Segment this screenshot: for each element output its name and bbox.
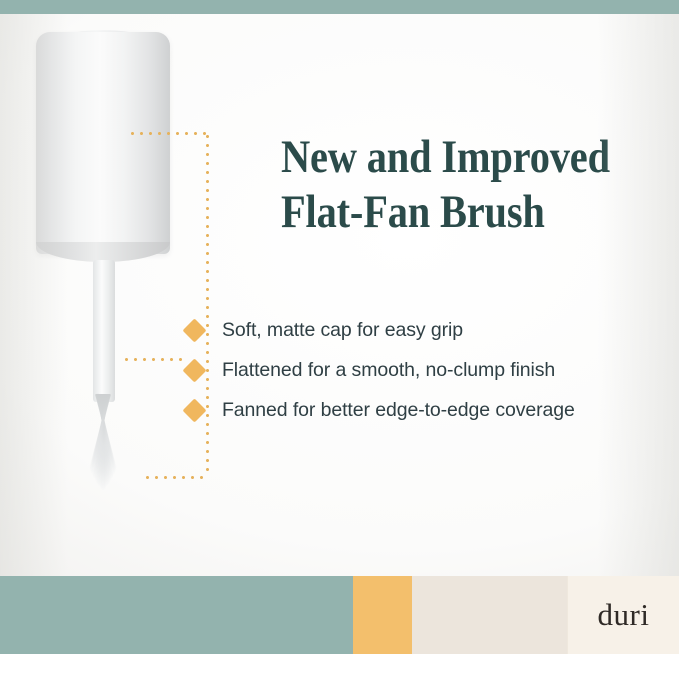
brush-bristles <box>72 394 138 496</box>
list-item-label: Fanned for better edge-to-edge coverage <box>222 399 575 422</box>
feature-list: Soft, matte cap for easy grip Flattened … <box>186 310 656 430</box>
list-item: Flattened for a smooth, no-clump finish <box>186 350 656 390</box>
bottom-white-strip <box>0 654 679 679</box>
diamond-icon <box>182 398 206 422</box>
connector-line-bottom <box>143 476 209 479</box>
main-canvas: New and Improved Flat-Fan Brush Soft, ma… <box>0 14 679 576</box>
band-segment-gold <box>353 576 412 654</box>
connector-line-middle <box>122 358 184 361</box>
brush-stem <box>93 260 115 402</box>
band-segment-teal <box>0 576 353 654</box>
brush-cap <box>36 32 170 254</box>
list-item: Soft, matte cap for easy grip <box>186 310 656 350</box>
brand-logo-panel: duri <box>567 576 679 654</box>
poster: New and Improved Flat-Fan Brush Soft, ma… <box>0 0 679 679</box>
brush-illustration <box>0 14 230 514</box>
bottom-color-band: duri <box>0 576 679 654</box>
connector-line-top <box>128 132 208 135</box>
list-item: Fanned for better edge-to-edge coverage <box>186 390 656 430</box>
cap-bottom-edge <box>36 242 170 262</box>
diamond-icon <box>182 318 206 342</box>
headline-line-2: Flat-Fan Brush <box>281 185 608 240</box>
top-accent-bar <box>0 0 679 14</box>
list-item-label: Flattened for a smooth, no-clump finish <box>222 359 555 382</box>
headline-line-1: New and Improved <box>281 131 610 183</box>
brand-logo-text: duri <box>598 597 650 633</box>
diamond-icon <box>182 358 206 382</box>
page-title: New and Improved Flat-Fan Brush <box>281 130 608 241</box>
band-segment-cream <box>412 576 567 654</box>
list-item-label: Soft, matte cap for easy grip <box>222 319 463 342</box>
